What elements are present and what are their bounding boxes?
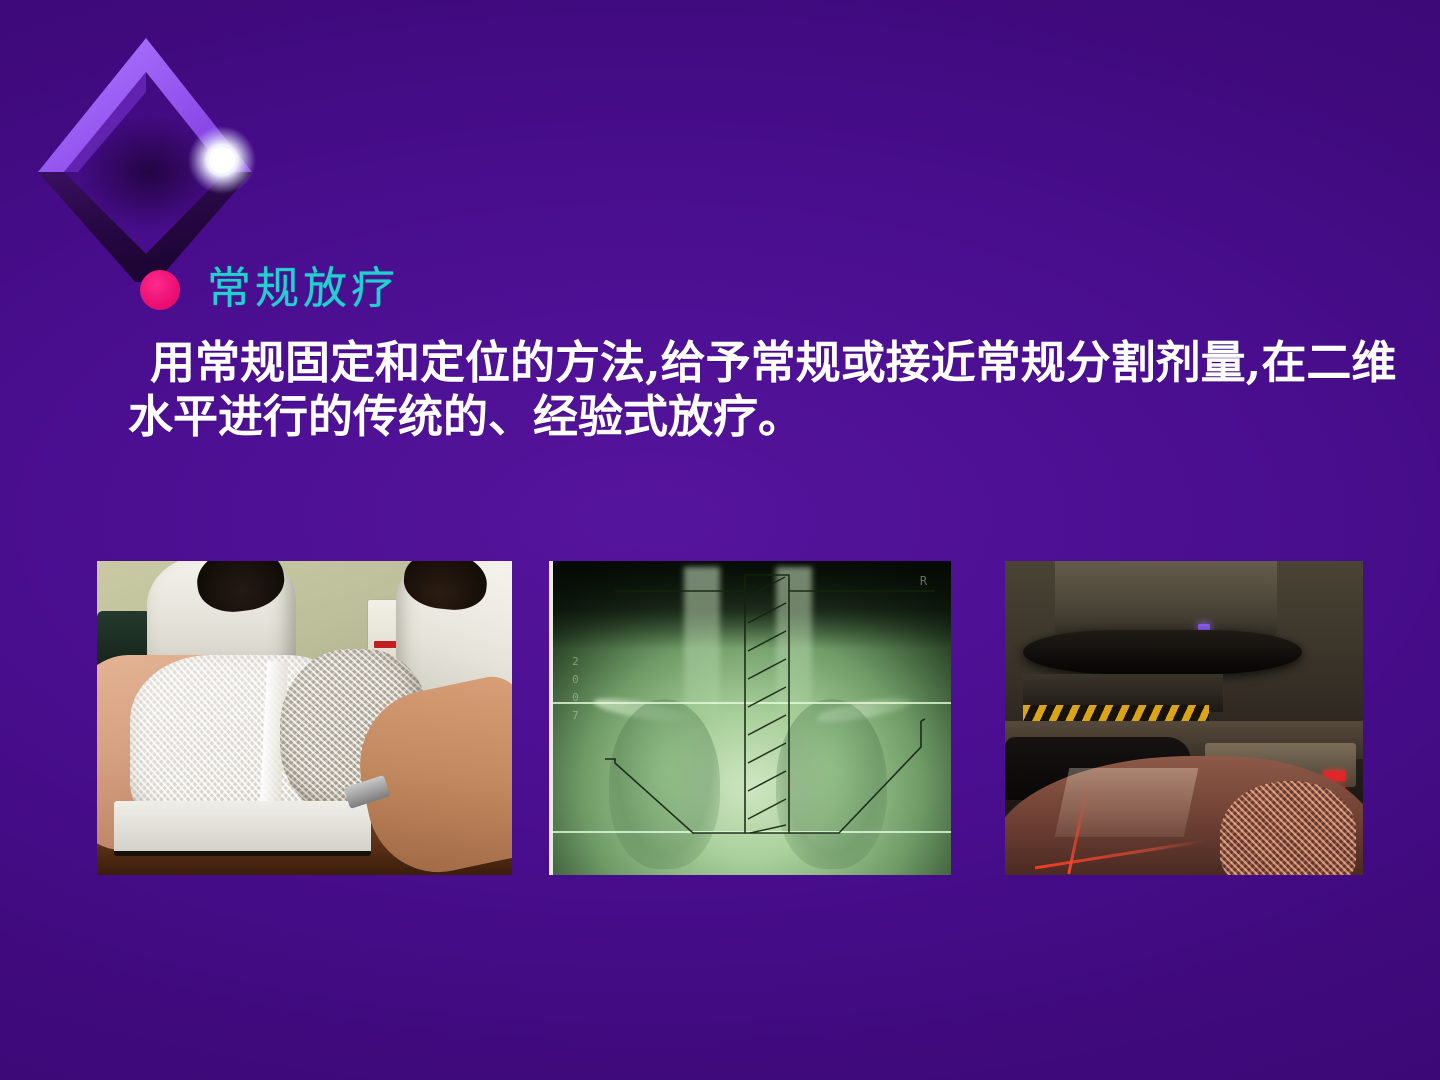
treatment-field-drawing [553,561,951,875]
hazard-stripe-tape [1023,705,1209,721]
diamond-icon [30,22,260,282]
photo-mask-fitting-scene [97,561,512,875]
bullet-dot-icon [140,270,180,310]
film-side-marker: R [920,574,927,588]
photo-linac-treatment [1005,561,1363,875]
film-date-stamp: 2007 [569,655,582,727]
logo-diamond [30,22,260,282]
photo-simulator-xray-scene: 2007 R [553,561,951,875]
patient-mask-head [1220,781,1356,875]
slide-body-text: 用常规固定和定位的方法,给予常规或接近常规分割剂量,在二维水平进行的传统的、经验… [128,336,1428,444]
photo-simulator-xray: 2007 R [549,561,951,875]
page-title: 常规放疗 [207,264,399,314]
photo-mask-fitting [97,561,512,875]
mask-base-plate [114,801,371,856]
slide: 常规放疗 用常规固定和定位的方法,给予常规或接近常规分割剂量,在二维水平进行的传… [0,0,1440,1080]
photo-linac-treatment-scene [1005,561,1363,875]
diamond-starburst-logo [30,22,260,282]
collimator-assembly [1023,630,1302,674]
